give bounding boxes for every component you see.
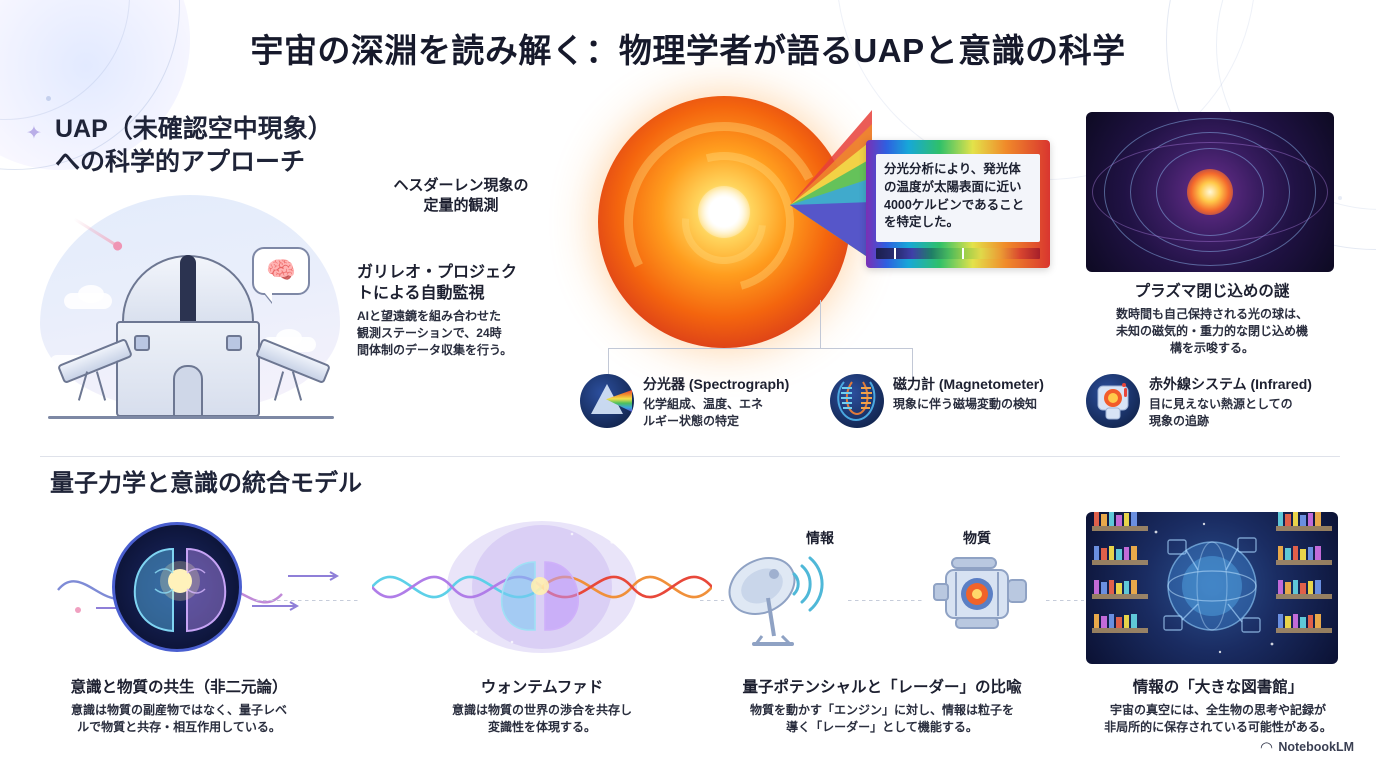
connector-line [820,300,821,348]
prism-icon [580,374,634,428]
card-title: 情報の「大きな図書館」 [1068,678,1368,699]
card-body-line2: ルで物質と共存・相互作用している。 [24,719,334,736]
hesdalen-observation-block: ヘスダーレン現象の 定量的観測 [368,176,554,216]
callout-text: 分光分析により、発光体の温度が太陽表面に近い4000ケルビンであることを特定した… [876,154,1040,242]
library-glyph [1086,512,1338,664]
instrument-text: 赤外線システム (Infrared) 目に見えない熱源としての 現象の追跡 [1149,374,1312,430]
instrument-text: 磁力計 (Magnetometer) 現象に伴う磁場変動の検知 [893,374,1044,413]
magnet-coil-glyph [830,374,884,428]
building-door [173,365,203,417]
sun-core [698,186,750,238]
card-title: ウォンテムファド [392,678,692,699]
dome-slit [180,255,196,323]
galileo-project-block: ガリレオ・プロジェク トによる自動監視 AIと望遠鏡を組み合わせた 観測ステーシ… [357,262,552,359]
background-dot [46,96,51,101]
card-body-line2: 非局所的に保存されている可能性がある。 [1068,719,1368,736]
connector-line [608,348,820,349]
spectrum-bar [876,248,1040,259]
card-body-line1: 物質を動かす「エンジン」に対し、情報は粒子を [702,702,1062,719]
notebooklm-logo-icon: ◠ [1261,738,1273,756]
instrument-infrared: 赤外線システム (Infrared) 目に見えない熱源としての 現象の追跡 [1086,374,1312,430]
label-information: 情報 [806,528,834,548]
card-body-line1: 意識は物質の副産物ではなく、量子レベ [24,702,334,719]
hesdalen-title-line1: ヘスダーレン現象の [368,176,554,196]
plasma-core [1187,169,1233,215]
footer-brand-text: NotebookLM [1278,740,1354,754]
card-cosmic-library: 情報の「大きな図書館」 宇宙の真空には、全生物の思考や記録が 非局所的に保存され… [1068,678,1368,736]
brain-speech-bubble: 🧠 [252,247,310,295]
consciousness-head-icon [112,522,242,652]
galileo-title-line2: トによる自動監視 [357,283,552,304]
cosmic-library-icon [1086,512,1338,664]
plasma-body-line2: 未知の磁気的・重力的な閉じ込め機 [1086,323,1338,340]
instrument-title-en: (Magnetometer) [939,376,1044,392]
section-heading-quantum: 量子力学と意識の統合モデル [50,468,362,500]
instrument-title: 分光器 (Spectrograph) [643,374,789,394]
engine-icon [930,548,1040,643]
section-heading-uap-line2: への科学的アプローチ [55,146,333,179]
thermal-camera-glyph [1086,374,1140,428]
infographic-canvas: 宇宙の深淵を読み解く：物理学者が語るUAPと意識の科学 ✦ UAP（未確認空中現… [0,0,1376,768]
observatory-illustration: 🧠 [30,195,350,440]
sparkle-icon: ✦ [26,122,42,145]
spectrum-tick [894,248,896,259]
card-quantum-potential: 量子ポテンシャルと「レーダー」の比喩 物質を動かす「エンジン」に対し、情報は粒子… [702,678,1062,736]
instrument-title-jp: 磁力計 [893,376,935,392]
brain-icon: 🧠 [266,259,296,283]
section-heading-uap-line1: UAP（未確認空中現象） [55,113,333,146]
hesdalen-title-line2: 定量的観測 [368,196,554,216]
spectrum-tick [962,248,964,259]
building-window [134,335,150,351]
plasma-body-line3: 構を示唆する。 [1086,340,1338,357]
galileo-body-line1: AIと望遠鏡を組み合わせた [357,308,552,325]
instrument-title-en: (Infrared) [1250,376,1311,392]
quantum-wave-icon [372,512,712,662]
instrument-title-en: (Spectrograph) [689,376,789,392]
dashed-connector [256,600,360,601]
magnetometer-icon [830,374,884,428]
instrument-title: 磁力計 (Magnetometer) [893,374,1044,394]
section-divider [40,456,1340,457]
spectral-analysis-callout: 分光分析により、発光体の温度が太陽表面に近い4000ケルビンであることを特定した… [866,140,1050,268]
card-quantum-field: ウォンテムファド 意識は物質の世界の渉合を共存し 変識性を体現する。 [392,678,692,736]
quantum-wave-glyph [372,512,712,662]
instrument-title-jp: 赤外線システム [1149,376,1247,392]
card-consciousness-matter: 意識と物質の共生（非二元論） 意識は物質の副産物ではなく、量子レベ ルで物質と共… [24,678,334,736]
card-body-line1: 宇宙の真空には、全生物の思考や記録が [1068,702,1368,719]
page-title: 宇宙の深淵を読み解く：物理学者が語るUAPと意識の科学 [0,24,1376,72]
section-heading-uap: UAP（未確認空中現象） への科学的アプローチ [55,113,333,179]
plasma-body-line1: 数時間も自己保持される光の球は、 [1086,306,1338,323]
instrument-body-line1: 目に見えない熱源としての [1149,396,1312,413]
ground-line [48,416,334,419]
connector-line [820,348,912,349]
galileo-body-line3: 間体制のデータ収集を行う。 [357,342,552,359]
dual-head-glyph [115,525,242,652]
plasma-field-illustration [1086,112,1334,272]
background-dot [1338,196,1342,200]
galileo-body-line2: 観測ステーションで、24時 [357,325,552,342]
cloud-icon [78,285,104,303]
footer-brand: ◠ NotebookLM [1261,738,1354,756]
instrument-body-line1: 現象に伴う磁場変動の検知 [893,396,1044,413]
instrument-magnetometer: 磁力計 (Magnetometer) 現象に伴う磁場変動の検知 [830,374,1044,428]
dashed-connector [1046,600,1084,601]
card-title: 意識と物質の共生（非二元論） [24,678,334,699]
galileo-title-line1: ガリレオ・プロジェク [357,262,552,283]
satellite-dish-glyph [712,540,842,655]
infrared-camera-icon [1086,374,1140,428]
label-matter: 物質 [963,528,991,548]
instrument-title-jp: 分光器 [643,376,685,392]
dashed-connector [848,600,922,601]
instrument-spectrograph: 分光器 (Spectrograph) 化学組成、温度、エネ ルギー状態の特定 [580,374,789,430]
card-body-line2: 導く「レーダー」として機能する。 [702,719,1062,736]
instrument-body-line2: ルギー状態の特定 [643,413,789,430]
engine-glyph [930,548,1040,643]
instrument-body-line2: 現象の追跡 [1149,413,1312,430]
card-body-line2: 変識性を体現する。 [392,719,692,736]
radar-dish-icon [712,540,842,655]
instrument-body-line1: 化学組成、温度、エネ [643,396,789,413]
instrument-title: 赤外線システム (Infrared) [1149,374,1312,394]
plasma-confinement-block: プラズマ閉じ込めの謎 数時間も自己保持される光の球は、 未知の磁気的・重力的な閉… [1086,282,1338,357]
plasma-title: プラズマ閉じ込めの謎 [1086,282,1338,303]
instrument-text: 分光器 (Spectrograph) 化学組成、温度、エネ ルギー状態の特定 [643,374,789,430]
card-title: 量子ポテンシャルと「レーダー」の比喩 [702,678,1062,699]
card-body-line1: 意識は物質の世界の渉合を共存し [392,702,692,719]
dashed-connector [700,600,724,601]
building-window [226,335,242,351]
